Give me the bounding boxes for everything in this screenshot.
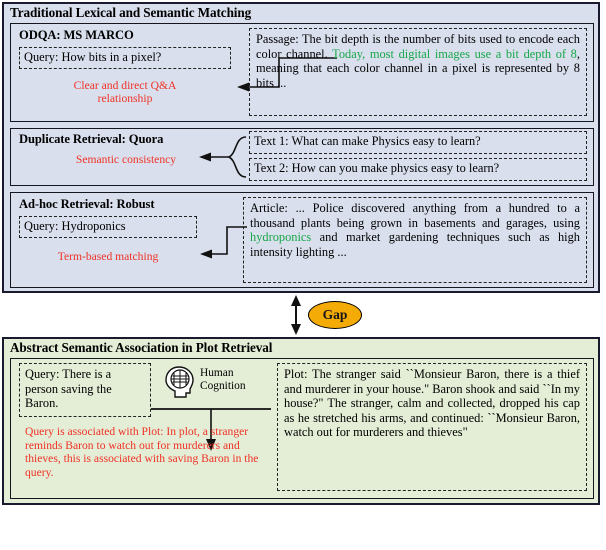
odqa-passage-box: Passage: The bit depth is the number of … — [249, 28, 587, 116]
section-quora-title: Duplicate Retrieval: Quora — [19, 132, 163, 146]
robust-query-text: Query: Hydroponics — [24, 219, 126, 233]
traditional-matching-panel: Traditional Lexical and Semantic Matchin… — [2, 2, 600, 293]
top-panel-title: Traditional Lexical and Semantic Matchin… — [4, 4, 598, 20]
odqa-passage-highlight: Today, most digital images use a bit dep… — [332, 47, 577, 61]
odqa-query-box: Query: How bits in a pixel? — [19, 47, 231, 69]
plot-query-box: Query: There is a person saving the Baro… — [19, 363, 151, 417]
bottom-panel-title: Abstract Semantic Association in Plot Re… — [4, 339, 598, 355]
odqa-query-text: Query: How bits in a pixel? — [24, 50, 161, 64]
robust-article-highlight: hydroponics — [250, 230, 311, 244]
plot-query-text: Query: There is a person saving the Baro… — [25, 367, 112, 410]
odqa-relationship-note: Clear and direct Q&A relationship — [19, 79, 231, 105]
robust-matching-note: Term-based matching — [19, 250, 197, 263]
odqa-note-line-2: relationship — [19, 92, 231, 105]
section-odqa-title: ODQA: MS MARCO — [19, 28, 134, 42]
robust-article-prefix: Article: ... Police discovered anything … — [250, 201, 580, 230]
plot-text-box: Plot: The stranger said ``Monsieur Baron… — [277, 363, 587, 491]
plot-text: Plot: The stranger said ``Monsieur Baron… — [284, 367, 580, 439]
gap-area: Gap — [0, 293, 606, 337]
section-odqa: ODQA: MS MARCO Query: How bits in a pixe… — [10, 23, 594, 122]
plot-association-note: Query is associated with Plot: In plot, … — [25, 425, 259, 479]
quora-brace-connector — [197, 131, 257, 185]
robust-article-box: Article: ... Police discovered anything … — [243, 197, 587, 283]
section-robust-title: Ad-hoc Retrieval: Robust — [19, 197, 154, 211]
section-quora: Duplicate Retrieval: Quora Semantic cons… — [10, 128, 594, 186]
quora-text1: Text 1: What can make Physics easy to le… — [254, 134, 481, 148]
quora-text1-box: Text 1: What can make Physics easy to le… — [249, 131, 587, 154]
section-plot-retrieval: Query: There is a person saving the Baro… — [10, 358, 594, 499]
section-robust: Ad-hoc Retrieval: Robust Query: Hydropon… — [10, 192, 594, 288]
quora-text2-box: Text 2: How can you make physics easy to… — [249, 158, 587, 181]
robust-query-box: Query: Hydroponics — [19, 216, 197, 238]
gap-double-arrow-icon — [286, 295, 310, 335]
cognition-label-line-1: Human — [200, 367, 246, 380]
plot-retrieval-panel: Abstract Semantic Association in Plot Re… — [2, 337, 600, 505]
gap-badge: Gap — [308, 301, 362, 329]
odqa-note-line-1: Clear and direct Q&A — [19, 79, 231, 92]
quora-text2: Text 2: How can you make physics easy to… — [254, 161, 499, 175]
